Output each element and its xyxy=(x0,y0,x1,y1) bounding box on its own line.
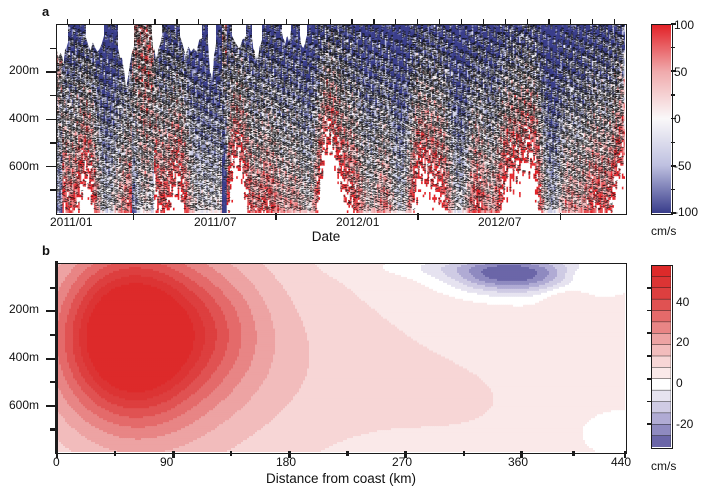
panel-b-xtick-440: 440 xyxy=(611,455,631,469)
tick-mark xyxy=(647,332,652,334)
tick-mark xyxy=(133,213,135,220)
panel-a-xtick-3: 2012/07 xyxy=(478,215,521,229)
panel-b-colorbar-steps xyxy=(651,265,671,447)
tick-mark xyxy=(647,310,652,312)
panel-b-xtick-180: 180 xyxy=(276,455,296,469)
tick-mark xyxy=(50,189,56,191)
tick-mark xyxy=(220,19,221,24)
tick-mark xyxy=(439,19,440,24)
panel-a-ytick-400: 400m xyxy=(9,111,39,125)
panel-a-xlabel: Date xyxy=(266,229,386,244)
tick-mark xyxy=(133,19,134,24)
tick-mark xyxy=(89,19,90,24)
panel-a-ytick-200: 200m xyxy=(9,63,39,77)
panel-b-xtick-0: 0 xyxy=(53,455,60,469)
tick-mark xyxy=(570,19,571,24)
tick-mark xyxy=(176,19,177,24)
tick-mark xyxy=(417,213,419,220)
tick-mark xyxy=(275,213,277,220)
panel-b-xtick-360: 360 xyxy=(508,455,528,469)
tick-mark xyxy=(286,19,287,24)
tick-mark xyxy=(50,48,56,50)
panel-a-cbtick-100: 100 xyxy=(674,18,694,32)
tick-mark xyxy=(614,19,615,24)
panel-b-cbtick-0: 0 xyxy=(676,376,683,390)
panel-b-colorbar-unit: cm/s xyxy=(651,459,676,473)
tick-mark xyxy=(346,451,348,456)
tick-mark xyxy=(647,423,652,425)
tick-mark xyxy=(417,19,418,24)
tick-mark xyxy=(330,19,331,24)
panel-a-colorbar xyxy=(651,24,671,213)
panel-b-contour-field xyxy=(57,263,625,452)
tick-mark xyxy=(527,19,528,24)
panel-a-contour-field xyxy=(56,24,625,213)
panel-a-cbtick-m100: -100 xyxy=(674,205,698,219)
tick-mark xyxy=(461,19,462,24)
tick-mark xyxy=(114,451,116,456)
panel-a-xtick-2: 2012/01 xyxy=(336,215,379,229)
tick-mark xyxy=(46,119,56,121)
panel-b-xtick-90: 90 xyxy=(160,455,173,469)
tick-mark xyxy=(647,401,652,403)
panel-a-xtick-1: 2011/07 xyxy=(194,215,237,229)
panel-a-colorbar-unit: cm/s xyxy=(651,224,676,238)
panel-b-ytick-400: 400m xyxy=(9,350,39,364)
tick-mark xyxy=(548,19,549,24)
tick-mark xyxy=(395,19,396,24)
figure-root: a 200m 400m 600m 2011/01 2011/07 2012/01… xyxy=(0,0,712,501)
panel-b-cbtick-40: 40 xyxy=(676,295,689,309)
panel-b-xtick-270: 270 xyxy=(392,455,412,469)
tick-mark xyxy=(647,378,652,380)
panel-b-xlabel: Distance from coast (km) xyxy=(221,471,461,486)
tick-mark xyxy=(671,142,675,143)
tick-mark xyxy=(505,19,506,24)
panel-b-letter: b xyxy=(42,243,50,258)
tick-mark xyxy=(242,19,243,24)
tick-mark xyxy=(111,19,112,24)
tick-mark xyxy=(351,19,352,24)
tick-mark xyxy=(671,189,675,190)
panel-a-cbtick-m50: -50 xyxy=(674,159,691,173)
tick-mark xyxy=(264,19,265,24)
tick-mark xyxy=(50,142,56,144)
tick-mark xyxy=(647,287,652,289)
tick-mark xyxy=(373,19,374,24)
tick-mark xyxy=(671,94,675,95)
panel-a-cbtick-50: 50 xyxy=(674,65,687,79)
tick-mark xyxy=(198,19,199,24)
tick-mark xyxy=(560,213,562,220)
panel-a-ytick-600: 600m xyxy=(9,159,39,173)
tick-mark xyxy=(483,19,484,24)
panel-a-plot xyxy=(56,24,625,213)
panel-b-cbtick-20: 20 xyxy=(676,335,689,349)
panel-a-colorbar-gradient xyxy=(651,24,671,213)
panel-b-cbtick-m20: -20 xyxy=(676,417,693,431)
tick-mark xyxy=(463,451,465,456)
tick-mark xyxy=(46,166,56,168)
panel-b-ytick-600: 600m xyxy=(9,398,39,412)
tick-mark xyxy=(46,71,56,73)
tick-mark xyxy=(67,19,68,24)
panel-b-ytick-200: 200m xyxy=(9,302,39,316)
tick-mark xyxy=(647,355,652,357)
tick-mark xyxy=(55,261,58,454)
panel-a-xtick-0: 2011/01 xyxy=(50,215,93,229)
tick-mark xyxy=(230,451,232,456)
panel-b-plot xyxy=(57,263,625,452)
tick-mark xyxy=(572,451,574,456)
panel-b-colorbar xyxy=(651,265,671,447)
tick-mark xyxy=(592,19,593,24)
tick-mark xyxy=(50,95,56,97)
panel-a-cbtick-0: 0 xyxy=(674,112,681,126)
tick-mark xyxy=(671,47,675,48)
panel-a-letter: a xyxy=(42,4,49,19)
tick-mark xyxy=(308,19,309,24)
tick-mark xyxy=(154,19,155,24)
